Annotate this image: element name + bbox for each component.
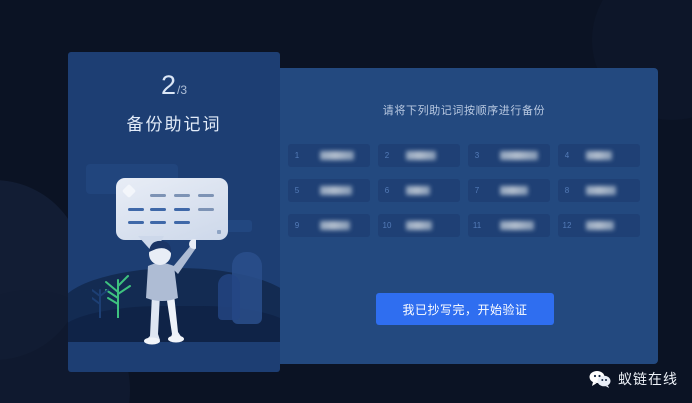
mnemonic-word-cell[interactable]: 3 xyxy=(468,144,550,167)
mnemonic-word-value xyxy=(500,151,538,160)
mnemonic-word-cell[interactable]: 8 xyxy=(558,179,640,202)
mnemonic-word-value xyxy=(406,151,436,160)
watermark-label: 蚁链在线 xyxy=(618,369,678,389)
card-line xyxy=(128,221,144,224)
mnemonic-word-index: 9 xyxy=(288,221,306,230)
mnemonic-word-value xyxy=(500,186,528,195)
mnemonic-word-cell[interactable]: 5 xyxy=(288,179,370,202)
instruction-text: 请将下列助记词按顺序进行备份 xyxy=(270,102,658,118)
card-line xyxy=(174,194,190,197)
mnemonic-word-index: 10 xyxy=(378,221,396,230)
step-panel: 2/3 备份助记词 xyxy=(68,52,280,372)
mnemonic-word-index: 1 xyxy=(288,151,306,160)
mnemonic-word-value xyxy=(586,151,612,160)
card-line xyxy=(174,221,190,224)
mnemonic-word-index: 6 xyxy=(378,186,396,195)
mnemonic-word-index: 12 xyxy=(558,221,576,230)
illustration xyxy=(68,162,280,372)
mnemonic-word-index: 4 xyxy=(558,151,576,160)
mnemonic-word-index: 2 xyxy=(378,151,396,160)
mnemonic-word-value xyxy=(320,151,354,160)
app-root: 请将下列助记词按顺序进行备份 123456789101112 我已抄写完，开始验… xyxy=(0,0,692,403)
page-title: 备份助记词 xyxy=(68,110,280,135)
person-illustration xyxy=(126,236,196,346)
step-current: 2 xyxy=(161,70,177,100)
mnemonic-word-index: 5 xyxy=(288,186,306,195)
card-line xyxy=(128,208,144,211)
card-dot-icon xyxy=(217,230,221,234)
mnemonic-word-grid: 123456789101112 xyxy=(288,144,640,237)
mnemonic-word-index: 7 xyxy=(468,186,486,195)
mnemonic-word-value xyxy=(586,186,616,195)
shrub-small-icon xyxy=(218,274,240,320)
mnemonic-card-illustration xyxy=(116,178,228,240)
card-line xyxy=(150,208,166,211)
step-counter: 2/3 xyxy=(68,70,280,101)
mnemonic-word-value xyxy=(406,186,430,195)
card-line xyxy=(198,194,214,197)
mnemonic-word-cell[interactable]: 6 xyxy=(378,179,460,202)
mnemonic-word-cell[interactable]: 4 xyxy=(558,144,640,167)
mnemonic-word-cell[interactable]: 2 xyxy=(378,144,460,167)
watermark: 蚁链在线 xyxy=(589,369,678,389)
step-total: /3 xyxy=(177,83,187,97)
diamond-icon xyxy=(122,184,136,198)
mnemonic-word-cell[interactable]: 1 xyxy=(288,144,370,167)
mnemonic-word-value xyxy=(586,221,614,230)
mnemonic-word-index: 11 xyxy=(468,221,486,230)
mnemonic-word-index: 8 xyxy=(558,186,576,195)
mnemonic-word-index: 3 xyxy=(468,151,486,160)
mnemonic-word-value xyxy=(500,221,534,230)
card-line xyxy=(150,221,166,224)
mnemonic-word-cell[interactable]: 11 xyxy=(468,214,550,237)
mnemonic-word-cell[interactable]: 10 xyxy=(378,214,460,237)
card-line xyxy=(198,208,214,211)
mnemonic-word-value xyxy=(406,221,432,230)
mnemonic-word-cell[interactable]: 7 xyxy=(468,179,550,202)
card-line xyxy=(174,208,190,211)
mnemonic-word-value xyxy=(320,186,352,195)
confirm-backup-button[interactable]: 我已抄写完，开始验证 xyxy=(376,293,554,325)
mnemonic-word-cell[interactable]: 12 xyxy=(558,214,640,237)
mnemonic-panel: 请将下列助记词按顺序进行备份 123456789101112 我已抄写完，开始验… xyxy=(270,68,658,364)
card-line xyxy=(150,194,166,197)
mnemonic-word-cell[interactable]: 9 xyxy=(288,214,370,237)
wechat-icon xyxy=(589,370,611,388)
mnemonic-word-value xyxy=(320,221,350,230)
